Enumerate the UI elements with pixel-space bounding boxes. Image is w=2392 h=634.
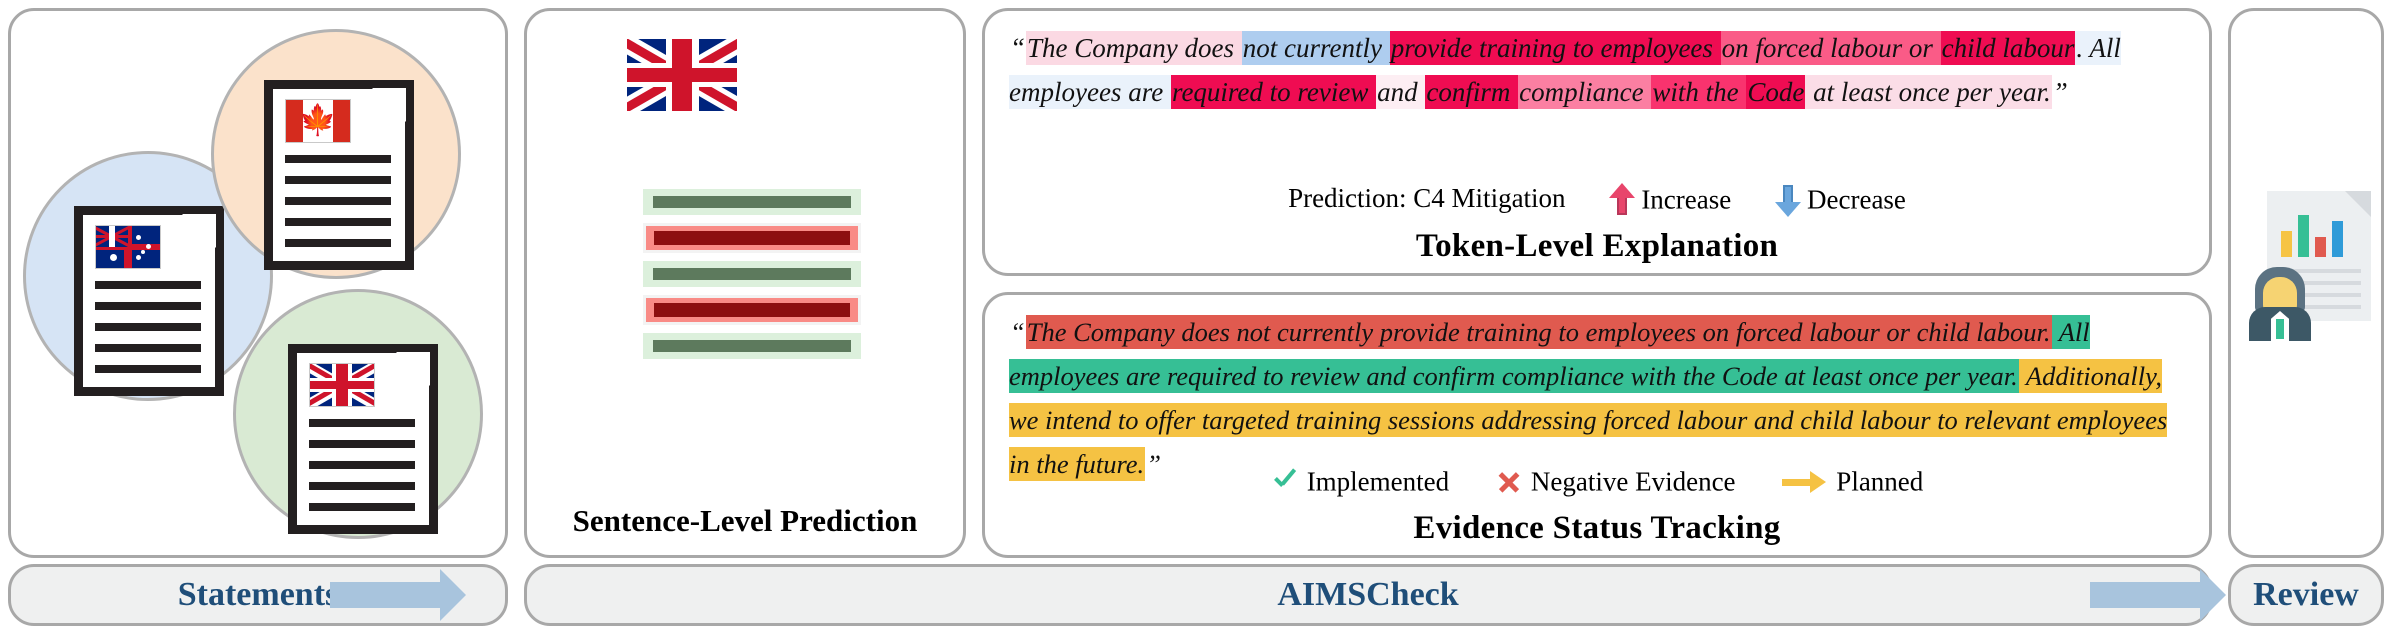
legend-item-implemented: Implemented (1271, 464, 1449, 497)
token-span: at least once per year. (1805, 75, 2051, 109)
token-level-explanation-panel: “The Company does not currently provide … (982, 8, 2212, 276)
uk-flag-icon (627, 39, 737, 111)
canada-flag-icon: 🍁 (285, 99, 351, 143)
token-span: child labour (1941, 31, 2076, 65)
sentence-row (643, 333, 861, 359)
token-span: required to review (1171, 75, 1376, 109)
mini-bar-chart (2281, 211, 2345, 257)
legend-label: Implemented (1307, 466, 1449, 496)
report-review-icon (2249, 191, 2373, 341)
flow-stage-review: Review (2228, 564, 2384, 626)
evidence-panel-legend: Implemented Negative Evidence Planned (985, 463, 2209, 497)
evidence-quote: “The Company does not currently provide … (1009, 311, 2187, 487)
statement-circle-uk (233, 289, 483, 539)
statements-panel: 🍁 (8, 8, 508, 558)
token-span: not currently (1242, 31, 1390, 65)
token-level-quote: “The Company does not currently provide … (1009, 27, 2187, 114)
legend-item-increase: Increase (1612, 182, 1731, 215)
review-panel (2228, 8, 2384, 558)
quote-open: “ (1009, 315, 1026, 349)
document-australia (74, 206, 224, 396)
legend-label: Decrease (1807, 184, 1906, 214)
cross-icon (1496, 469, 1522, 495)
document-lines (95, 281, 201, 386)
evidence-segment-negative: The Company does not currently provide t… (1026, 315, 2052, 349)
legend-label: Planned (1836, 466, 1923, 496)
sentence-level-document (627, 39, 877, 369)
flow-label-statements: Statements (178, 576, 339, 614)
flow-label-review: Review (2253, 576, 2359, 614)
sentence-row-highlighted (643, 223, 861, 253)
arrow-up-icon (1612, 185, 1632, 215)
pipeline-figure: 🍁 (0, 0, 2392, 634)
arrow-right-icon (1782, 471, 1826, 493)
statement-circle-canada: 🍁 (211, 29, 461, 279)
token-panel-title: Token-Level Explanation (985, 228, 2209, 265)
flow-arrow-statements-to-aimscheck (330, 582, 440, 608)
sentence-row (643, 189, 861, 215)
sentence-rows (643, 189, 861, 367)
flow-stage-aimscheck: AIMSCheck (524, 564, 2212, 626)
prediction-label: Prediction: C4 Mitigation (1288, 183, 1566, 214)
quote-open: “ (1009, 31, 1026, 65)
quote-close: ” (2052, 75, 2069, 109)
legend-label: Increase (1641, 184, 1731, 214)
token-span: provide training to employees (1390, 31, 1721, 65)
evidence-panel-title: Evidence Status Tracking (985, 510, 2209, 547)
sentence-row (643, 261, 861, 287)
document-canada: 🍁 (264, 80, 414, 270)
page-fold-icon (2345, 191, 2371, 217)
token-span: with the (1651, 75, 1746, 109)
australia-flag-icon (95, 225, 161, 269)
check-icon (1271, 469, 1297, 495)
flow-label-aimscheck: AIMSCheck (1277, 576, 1458, 614)
token-span: compliance (1518, 75, 1651, 109)
arrow-down-icon (1778, 185, 1798, 215)
token-span: confirm (1425, 75, 1518, 109)
document-lines (309, 419, 415, 524)
document-uk (288, 344, 438, 534)
token-span: and (1376, 75, 1425, 109)
evidence-status-panel: “The Company does not currently provide … (982, 292, 2212, 558)
legend-item-negative: Negative Evidence (1496, 464, 1736, 497)
token-panel-meta: Prediction: C4 Mitigation Increase Decre… (985, 181, 2209, 215)
legend-label: Negative Evidence (1531, 466, 1736, 496)
sentence-panel-caption: Sentence-Level Prediction (527, 503, 963, 539)
legend-item-planned: Planned (1782, 464, 1923, 497)
sentence-row-highlighted (643, 295, 861, 325)
flow-arrow-aimscheck-to-review (2090, 582, 2200, 608)
sentence-level-panel: Sentence-Level Prediction (524, 8, 966, 558)
document-lines (285, 155, 391, 260)
legend-item-decrease: Decrease (1778, 182, 1906, 215)
token-span: Code (1746, 75, 1805, 109)
token-span: on forced labour or (1721, 31, 1941, 65)
reviewer-avatar-icon (2249, 267, 2311, 341)
uk-flag-icon (309, 363, 375, 407)
token-span: The Company does (1026, 31, 1242, 65)
